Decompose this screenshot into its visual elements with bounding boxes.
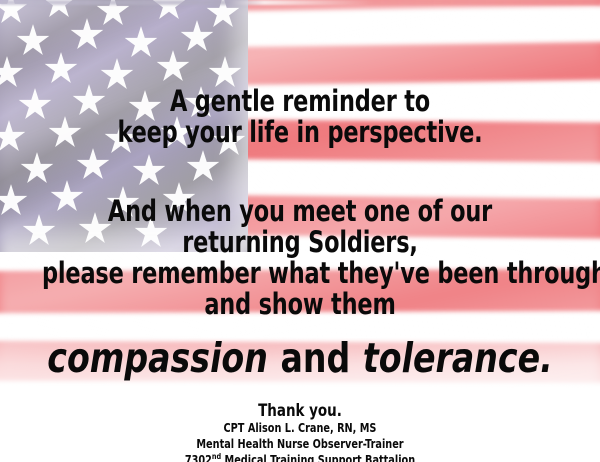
message-line: And when you meet one of our (42, 196, 558, 227)
unit-number: 7302 (185, 453, 212, 462)
signature-block: CPT Alison L. Crane, RN, MS Mental Healt… (30, 421, 570, 462)
message-line: returning Soldiers, (42, 227, 558, 258)
emphasis-word-compassion: compassion (47, 334, 268, 382)
poster-text: A gentle reminder to keep your life in p… (0, 0, 600, 462)
author-unit: 7302nd Medical Training Support Battalio… (30, 453, 570, 462)
emphasis-conjunction: and (280, 334, 350, 382)
flag-poster: A gentle reminder to keep your life in p… (0, 0, 600, 462)
message-block-one: A gentle reminder to keep your life in p… (42, 86, 558, 148)
message-line: please remember what they've been throug… (42, 258, 558, 289)
message-line: A gentle reminder to (42, 86, 558, 117)
unit-name: Medical Training Support Battalion (221, 453, 415, 462)
emphasis-word-tolerance: tolerance. (363, 334, 553, 382)
message-block-two: And when you meet one of our returning S… (42, 196, 558, 320)
author-name: CPT Alison L. Crane, RN, MS (30, 421, 570, 437)
message-line: and show them (42, 289, 558, 320)
thank-you-line: Thank you. (36, 403, 564, 420)
emphasis-line: compassionandtolerance. (30, 338, 570, 379)
message-line: keep your life in perspective. (42, 117, 558, 148)
author-title: Mental Health Nurse Observer-Trainer (30, 437, 570, 453)
unit-ordinal-suffix: nd (212, 452, 221, 461)
